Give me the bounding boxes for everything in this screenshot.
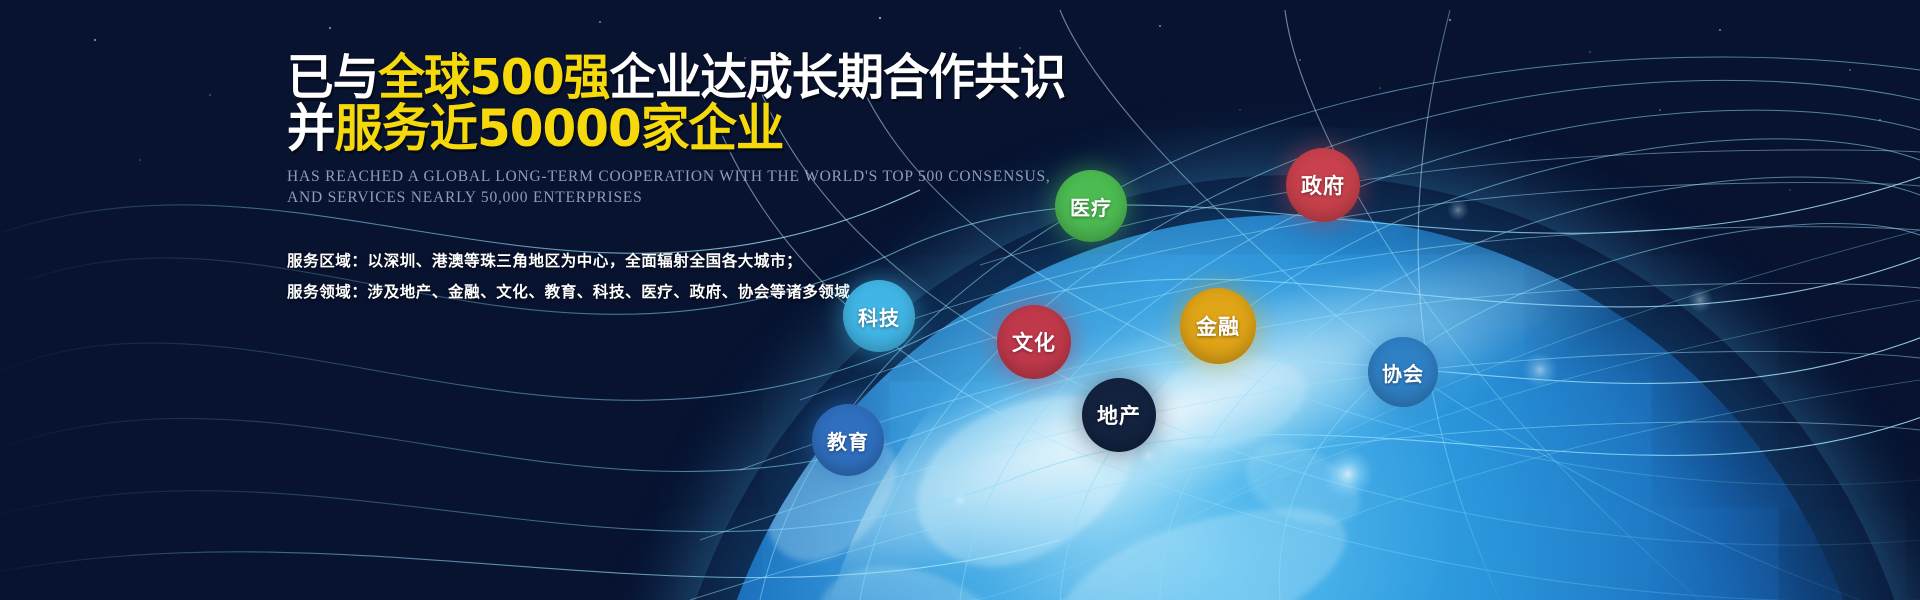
subtitle-line-1: HAS REACHED A GLOBAL LONG-TERM COOPERATI…	[287, 166, 1047, 187]
industry-node-label: 协会	[1382, 358, 1424, 387]
industry-node[interactable]: 地产	[1082, 378, 1156, 452]
body-text: 服务区域：以深圳、港澳等珠三角地区为中心，全面辐射全国各大城市； 服务领域：涉及…	[287, 246, 1047, 308]
industry-node-label: 金融	[1196, 311, 1240, 341]
industry-node[interactable]: 政府	[1286, 148, 1360, 222]
industry-node-label: 文化	[1012, 327, 1056, 357]
industry-node-label: 教育	[827, 426, 869, 455]
headline-l1-seg-1: 已与	[287, 49, 378, 106]
promo-banner: 已与全球500强企业达成长期合作共识 并服务近50000家企业 HAS REAC…	[0, 0, 1920, 600]
industry-node[interactable]: 文化	[997, 305, 1071, 379]
headline-l1-seg-2: 全球500强	[378, 49, 609, 106]
industry-node[interactable]: 金融	[1180, 288, 1256, 364]
industry-node[interactable]: 教育	[812, 404, 884, 476]
industry-node[interactable]: 协会	[1368, 337, 1438, 407]
body-line-service-area: 服务区域：以深圳、港澳等珠三角地区为中心，全面辐射全国各大城市；	[287, 246, 1047, 277]
headline: 已与全球500强企业达成长期合作共识 并服务近50000家企业	[287, 52, 1047, 156]
industry-node[interactable]: 医疗	[1055, 170, 1127, 242]
industry-node[interactable]: 科技	[843, 280, 915, 352]
banner-copy: 已与全球500强企业达成长期合作共识 并服务近50000家企业 HAS REAC…	[287, 52, 1047, 308]
headline-line-1: 已与全球500强企业达成长期合作共识	[287, 52, 1009, 104]
industry-node-label: 科技	[858, 302, 900, 331]
industry-node-label: 地产	[1097, 400, 1141, 430]
industry-node-label: 政府	[1301, 170, 1345, 200]
headline-l2-seg-1: 并	[287, 100, 335, 159]
body-line-service-fields: 服务领域：涉及地产、金融、文化、教育、科技、医疗、政府、协会等诸多领域。	[287, 277, 1047, 308]
industry-node-label: 医疗	[1070, 192, 1112, 221]
subtitle-english: HAS REACHED A GLOBAL LONG-TERM COOPERATI…	[287, 166, 1047, 208]
headline-l2-seg-2: 服务近50000家企业	[335, 100, 784, 159]
subtitle-line-2: AND SERVICES NEARLY 50,000 ENTERPRISES	[287, 187, 1047, 208]
headline-l1-seg-3: 企业达成长期合作共识	[609, 49, 1065, 106]
headline-line-2: 并服务近50000家企业	[287, 104, 1009, 156]
